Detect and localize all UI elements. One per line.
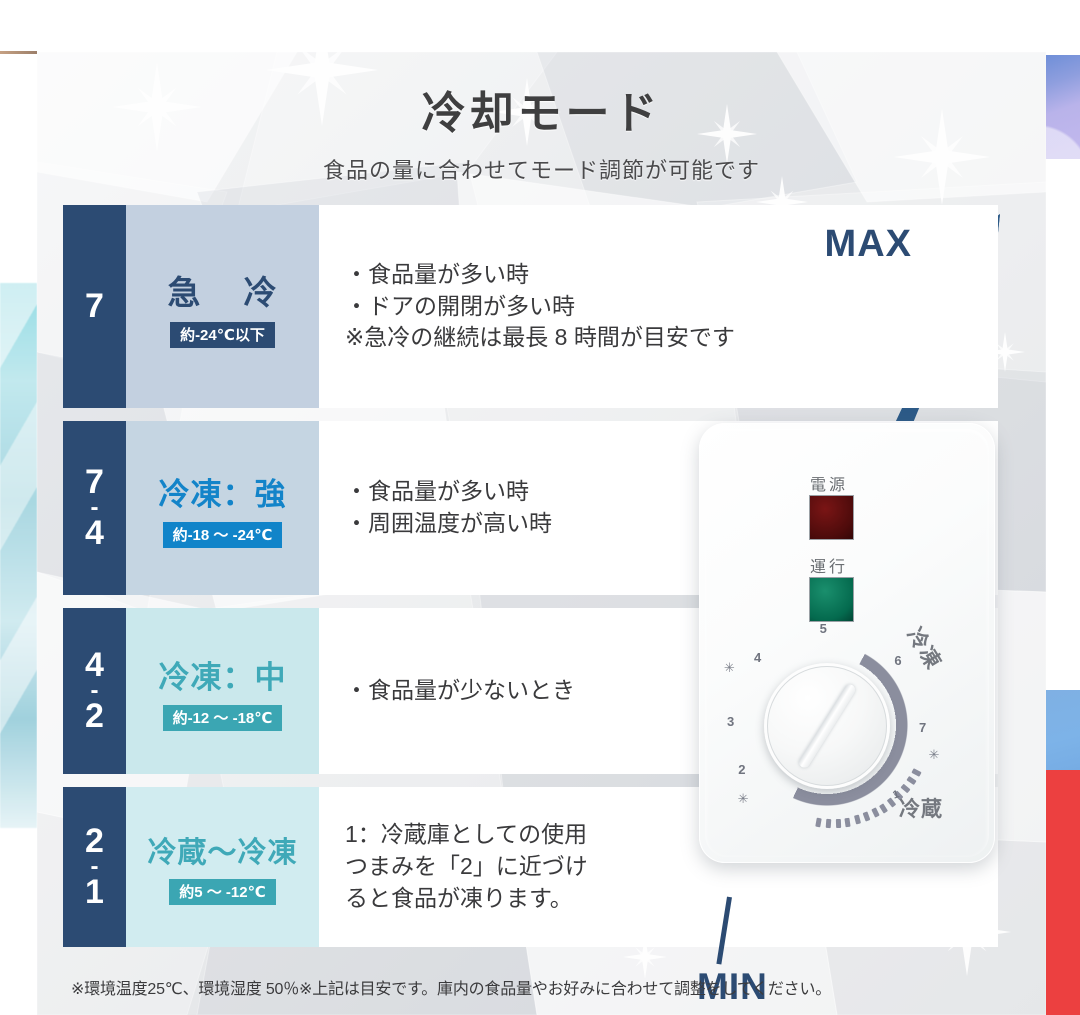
dial-dash	[854, 815, 861, 825]
row-mode-name-part2: 冷	[244, 266, 278, 314]
row-mode-cell: 冷凍：強 約-18 ～ -24℃	[126, 421, 319, 595]
dial-snowflake-icon: ✳	[724, 660, 735, 676]
row-desc-line: ると食品が凍ります。	[345, 883, 998, 915]
row-mode-name: 冷凍：強	[159, 469, 287, 514]
dial-dash	[826, 819, 832, 828]
run-lamp-label: 運行	[810, 553, 848, 577]
row-temp-badge: 約-24℃以下	[170, 322, 275, 348]
page-subtitle: 食品の量に合わせてモード調節が可能です	[37, 153, 1046, 185]
bottom-right-red-block	[1046, 770, 1080, 1015]
dial-tick-2: 2	[738, 762, 745, 777]
row-number-value: 7	[85, 289, 104, 324]
row-desc-line: ※急冷の継続は最長 8 時間が目安です	[345, 322, 998, 354]
row-mode-cell: 急 冷 約-24℃以下	[126, 205, 319, 408]
row-mode-name: 冷凍：中	[159, 652, 287, 697]
row-number-bottom: 2	[85, 699, 104, 734]
left-edge-teal-band	[0, 283, 37, 828]
table-row: 7 急 冷 約-24℃以下 ・食品量が多い時 ・ドアの開閉が多い時 ※急冷の継続…	[63, 205, 998, 408]
power-indicator-lamp	[809, 495, 854, 540]
dial-dash	[906, 776, 916, 785]
row-desc-line: ・ドアの開閉が多い時	[345, 291, 998, 323]
dial-tick-7: 7	[919, 720, 926, 735]
row-temp-badge: 約-12 ～ -18℃	[163, 705, 283, 731]
run-indicator-lamp	[809, 577, 854, 622]
row-description: ・食品量が多い時 ・ドアの開閉が多い時 ※急冷の継続は最長 8 時間が目安です …	[319, 205, 998, 408]
max-label: MAX	[825, 223, 912, 266]
row-number: 4 - 2	[63, 608, 126, 774]
row-number-bottom: 1	[85, 875, 104, 910]
card-header: 冷却モード 食品の量に合わせてモード調節が可能です	[37, 52, 1046, 185]
dial-dash	[871, 808, 879, 818]
thermostat-control-panel: 電源 運行 冷凍 冷蔵 234567✳✳✳1	[699, 423, 995, 863]
dial-snowflake-icon: ✳	[929, 747, 940, 763]
top-left-brown-rule	[0, 51, 37, 54]
dial-tick-4: 4	[754, 650, 761, 665]
footnote: ※環境温度25℃、環境湿度 50％※上記は目安です。庫内の食品量やお好みに合わせ…	[71, 975, 1011, 999]
dial-tick-3: 3	[727, 714, 734, 729]
temperature-dial[interactable]: 冷凍 冷蔵 234567✳✳✳1	[721, 631, 971, 836]
dial-freeze-label: 冷凍	[901, 621, 950, 674]
row-number: 7	[63, 205, 126, 408]
dial-dash	[816, 818, 822, 828]
row-number: 2 - 1	[63, 787, 126, 947]
dial-snowflake-icon: ✳	[738, 791, 749, 807]
dial-dash	[879, 803, 888, 813]
dial-dash	[911, 768, 921, 777]
dial-dash	[863, 812, 871, 822]
dial-tick-6: 6	[894, 653, 901, 668]
row-number-bottom: 4	[85, 516, 104, 551]
dial-fridge-label: 冷蔵	[899, 793, 943, 823]
row-temp-badge: 約5 ～ -12℃	[169, 879, 276, 905]
row-mode-cell: 冷凍：中 約-12 ～ -18℃	[126, 608, 319, 774]
top-right-purple-block	[1046, 55, 1080, 159]
row-mode-name: 冷蔵～冷凍	[147, 829, 297, 871]
cooling-mode-card: 冷却モード 食品の量に合わせてモード調節が可能です 7 急 冷 約-24℃以下 …	[37, 52, 1046, 1015]
row-mode-name: 急 冷	[168, 266, 278, 314]
dial-dash	[845, 817, 851, 827]
row-mode-name-part1: 急	[168, 266, 202, 314]
dial-dash	[836, 819, 841, 828]
power-lamp-label: 電源	[810, 471, 848, 495]
row-mode-cell: 冷蔵～冷凍 約5 ～ -12℃	[126, 787, 319, 947]
page-title: 冷却モード	[37, 77, 1046, 141]
row-temp-badge: 約-18 ～ -24℃	[163, 522, 283, 548]
row-number: 7 - 4	[63, 421, 126, 595]
dial-dashed-track	[737, 749, 917, 819]
dial-tick-5: 5	[820, 621, 827, 636]
bottom-right-blue-block	[1046, 690, 1080, 770]
